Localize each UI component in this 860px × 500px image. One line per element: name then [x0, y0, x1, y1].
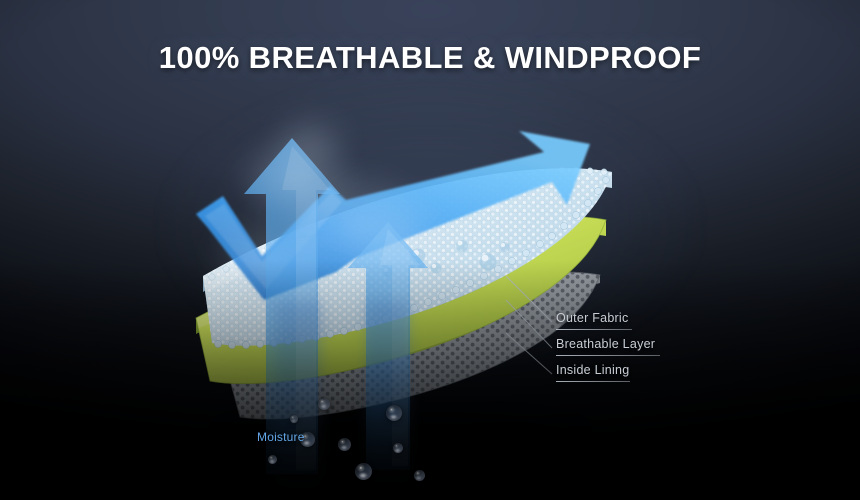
callout-label-outer-fabric: Outer Fabric	[556, 311, 628, 325]
callout-label-breathable-layer: Breathable Layer	[556, 337, 655, 351]
page-title: 100% BREATHABLE & WINDPROOF	[0, 40, 860, 76]
infographic-canvas: 100% BREATHABLE & WINDPROOF Outer Fabric…	[0, 0, 860, 500]
moisture-label: Moisture	[257, 430, 305, 444]
callout-underline-inside-lining	[556, 381, 630, 382]
callout-underline-outer-fabric	[556, 329, 632, 330]
callout-label-inside-lining: Inside Lining	[556, 363, 629, 377]
callout-underline-breathable-layer	[556, 355, 660, 356]
